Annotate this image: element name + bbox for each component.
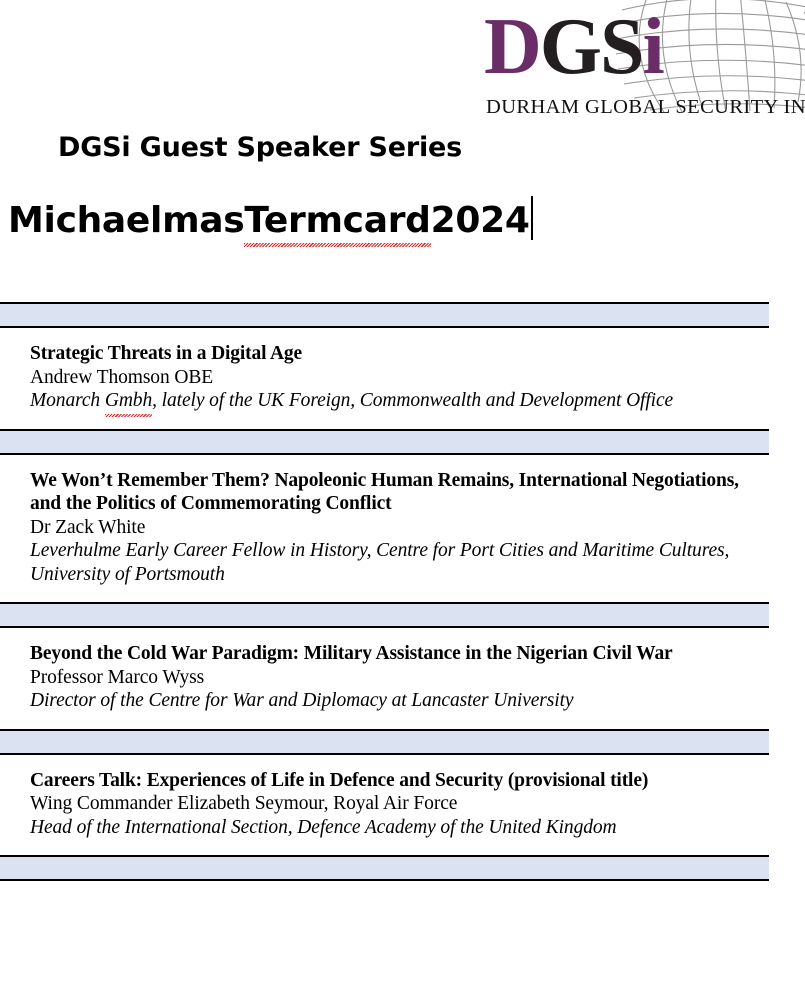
termcard-heading-year: 2024 [431,200,530,242]
entry-affiliation-suffix: , lately of the UK Foreign, Commonwealth… [152,390,673,411]
entry-affiliation-misspelled-word: Gmbh [105,389,152,413]
entry-title: We Won’t Remember Them? Napoleonic Human… [30,469,769,516]
table-band-row [0,729,769,755]
entry-affiliation: Head of the International Section, Defen… [30,816,760,840]
logo-letter-i: i [643,3,663,91]
table-band-row [0,429,769,455]
table-row: Beyond the Cold War Paradigm: Military A… [0,628,769,729]
table-band-row [0,302,769,328]
logo-letter-d: D [484,3,540,91]
table-band-row [0,602,769,628]
termcard-heading-main: Michaelmas [8,200,244,242]
logo-wordmark: DGSi [484,3,663,91]
entry-affiliation-prefix: Monarch [30,390,105,411]
termcard-table: Strategic Threats in a Digital Age Andre… [0,302,769,881]
termcard-heading-misspelled-word: Termcard [244,200,430,242]
entry-speaker: Dr Zack White [30,516,769,540]
dgsi-logo: DGSi DURHAM GLOBAL SECURITY INSTITUTE [478,0,805,122]
entry-affiliation: Leverhulme Early Career Fellow in Histor… [30,539,760,586]
table-row: Strategic Threats in a Digital Age Andre… [0,328,769,429]
entry-affiliation: Director of the Centre for War and Diplo… [30,689,760,713]
entry-speaker: Professor Marco Wyss [30,666,769,690]
entry-speaker: Andrew Thomson OBE [30,366,769,390]
entry-title: Beyond the Cold War Paradigm: Military A… [30,642,769,666]
table-band-row [0,855,769,881]
termcard-heading: Michaelmas Termcard 2024 [8,188,533,242]
table-row: We Won’t Remember Them? Napoleonic Human… [0,455,769,603]
entry-affiliation: Monarch Gmbh, lately of the UK Foreign, … [30,389,760,413]
entry-title: Strategic Threats in a Digital Age [30,342,769,366]
entry-title: Careers Talk: Experiences of Life in Def… [30,769,769,793]
text-cursor-caret [531,196,533,240]
entry-speaker: Wing Commander Elizabeth Seymour, Royal … [30,792,769,816]
logo-letters-gs: GS [540,3,643,91]
table-row: Careers Talk: Experiences of Life in Def… [0,755,769,856]
logo-subtitle: DURHAM GLOBAL SECURITY INSTITUTE [486,96,805,118]
series-heading: DGSi Guest Speaker Series [58,132,462,164]
